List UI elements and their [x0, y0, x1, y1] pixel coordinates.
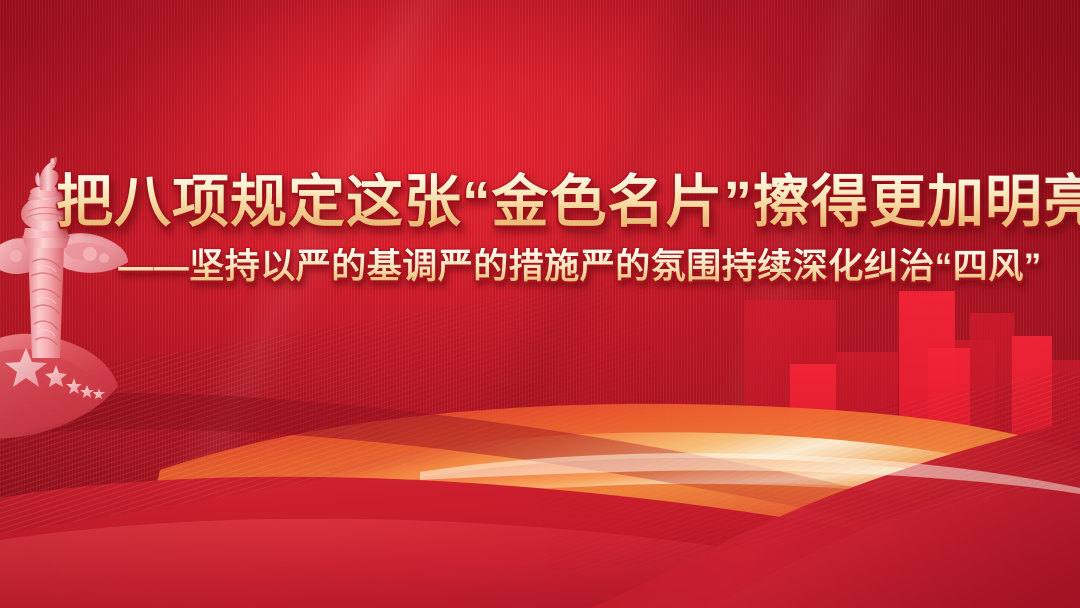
page-title: 把八项规定这张“金色名片”擦得更加明亮: [0, 172, 1080, 234]
headline-block: 把八项规定这张“金色名片”擦得更加明亮 ——坚持以严的基调严的措施严的氛围持续深…: [0, 172, 1080, 286]
propaganda-banner: 把八项规定这张“金色名片”擦得更加明亮 ——坚持以严的基调严的措施严的氛围持续深…: [0, 0, 1080, 608]
page-subtitle: ——坚持以严的基调严的措施严的氛围持续深化纠治“四风”: [0, 248, 1080, 287]
